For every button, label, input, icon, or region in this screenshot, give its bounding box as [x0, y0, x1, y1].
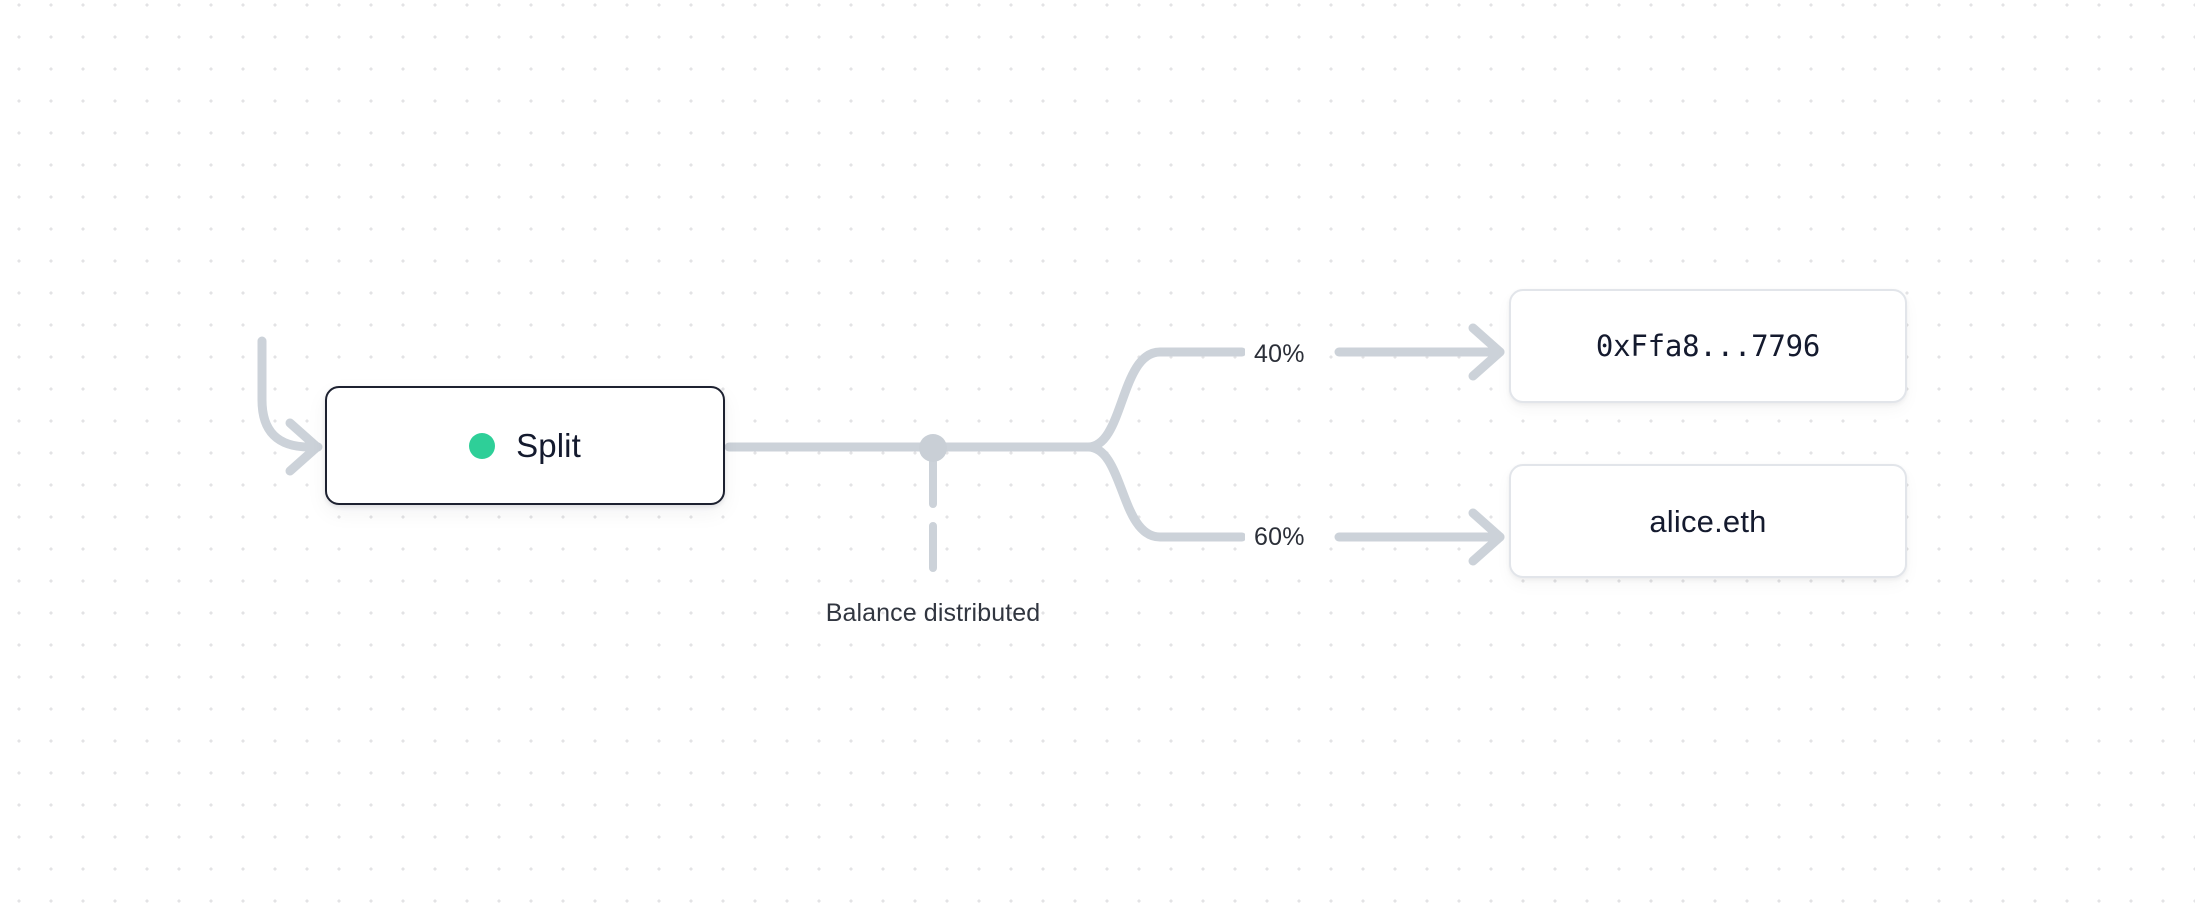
edge-label-percent-40[interactable]: 40% — [1245, 338, 1314, 371]
node-recipient-label: 0xFfa8...7796 — [1596, 332, 1820, 361]
status-dot-active-icon — [469, 433, 495, 459]
node-split-label: Split — [516, 429, 581, 462]
junction-note-label: Balance distributed — [786, 601, 1080, 626]
flow-canvas[interactable]: Split 40% 60% 0xFfa8...7796 alice.eth Ba… — [0, 0, 2195, 912]
node-split[interactable]: Split — [325, 386, 725, 505]
node-recipient-label: alice.eth — [1649, 506, 1766, 537]
junction-dot-icon[interactable] — [919, 434, 947, 462]
incoming-edge — [262, 341, 318, 471]
edge-label-percent-60[interactable]: 60% — [1245, 521, 1314, 554]
node-recipient-address[interactable]: 0xFfa8...7796 — [1509, 289, 1907, 403]
node-recipient-ens[interactable]: alice.eth — [1509, 464, 1907, 578]
